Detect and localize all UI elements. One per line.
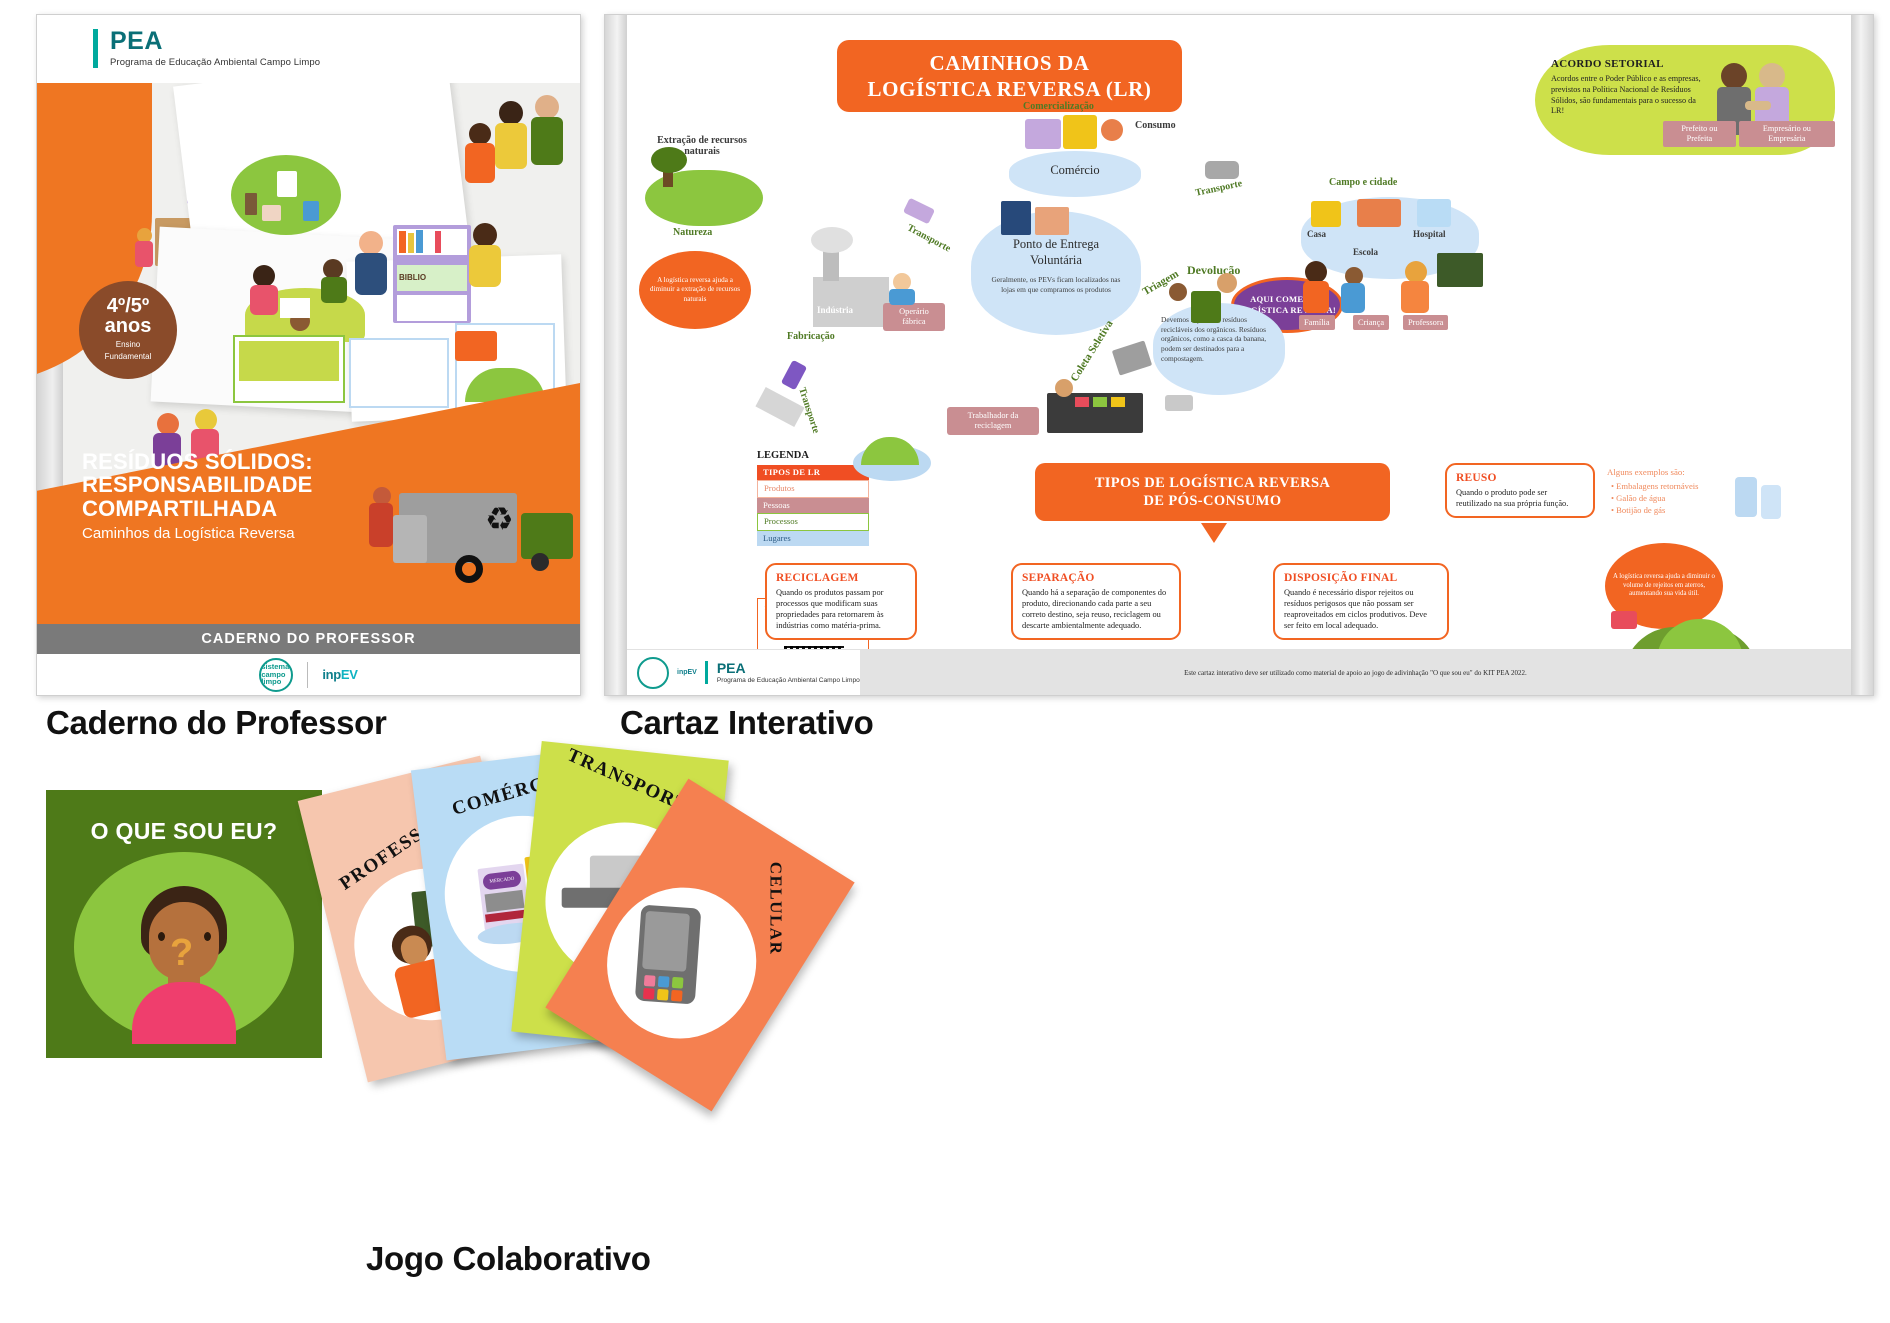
paper-icon [277,171,297,197]
box-disposicao-final: DISPOSIÇÃO FINAL Quando é necessário dis… [1273,563,1449,640]
pev-box-icon [1035,207,1069,235]
trabalhador-head-icon [1055,379,1073,397]
legend-title: LEGENDA [757,450,869,461]
pea-logo-title: PEA [110,29,320,54]
reciclagem-body: Quando os produtos passam por processos … [776,587,906,631]
triagem-adult-head [1217,273,1237,293]
character-eye-left-icon [158,932,165,941]
familia-body-icon [1303,281,1329,313]
campo-limpo-logo-text: sistema campo limpo [261,663,291,686]
caderno-title-line1: RESÍDUOS SÓLIDOS: [82,450,313,473]
poster-right-spine [1851,15,1873,695]
tipos-lr-banner: TIPOS DE LOGÍSTICA REVERSA DE PÓS-CONSUM… [1035,463,1390,521]
book-icon [303,201,319,221]
industria-chimney-icon [823,249,839,281]
phone-key-1 [644,975,656,987]
book-spine-1 [399,231,406,253]
grade-badge-line2: anos [79,316,177,337]
label-trabalhador-reciclagem: Trabalhador da reciclagem [947,407,1039,435]
jogo-cards-fan: PROFESSORA COMÉRCIO MERCADO TRANSPORTE C… [330,740,950,1300]
casa-icon [1311,201,1341,227]
disposicao-heading: DISPOSIÇÃO FINAL [1284,572,1438,584]
hospital-icon [1417,199,1451,227]
biblio-label: BIBLIO [399,273,426,282]
separacao-heading: SEPARAÇÃO [1022,572,1170,584]
pea-logo: PEA Programa de Educação Ambiental Campo… [93,29,320,68]
label-transporte-3: Transporte [1194,178,1243,199]
worksheet-icon [280,298,310,318]
student-body-1 [250,285,278,315]
compost-hill-icon [861,437,919,465]
store-icon-1 [1025,119,1061,149]
reuso-example-2: Botijão de gás [1611,505,1699,517]
professora-body-icon [1401,281,1429,313]
book-spine-4 [435,231,441,253]
inpev-logo-suffix: EV [341,667,358,682]
box-separacao: SEPARAÇÃO Quando há a separação de compo… [1011,563,1181,640]
waste-item-2 [1093,397,1107,407]
waste-item-3 [1111,397,1125,407]
caderno-title-block: RESÍDUOS SÓLIDOS: RESPONSABILIDADE COMPA… [82,450,313,542]
professora-head-icon [1405,261,1427,283]
tipos-banner-line2: DE PÓS-CONSUMO [1035,492,1390,510]
reuso-example-1: Galão de água [1611,493,1699,505]
reuso-examples-title: Alguns exemplos são: [1607,467,1685,477]
poster-pea-subtitle: Programa de Educação Ambiental Campo Lim… [717,677,860,684]
legend-row-tipos: TIPOS DE LR [757,465,869,480]
poster-inpev-logo: inpEV [677,669,697,676]
grade-badge-line3: Ensino [79,340,177,349]
label-operario-fabrica: Operário fábrica [883,303,945,331]
label-campo-cidade: Campo e cidade [1329,177,1397,188]
poster-footer-logos: inpEV PEA Programa de Educação Ambiental… [627,657,860,689]
tipos-banner-line1: TIPOS DE LOGÍSTICA REVERSA [1035,474,1390,492]
reuso-body: Quando o produto pode ser reutilizado na… [1456,487,1584,509]
waste-item-1 [1075,397,1089,407]
campo-limpo-ring-icon: sistema campo limpo [259,658,293,692]
student-body-2 [321,277,347,303]
person-head-c [535,95,559,119]
pev-body: Geralmente, os PEVs ficam localizados na… [987,275,1125,294]
poster-footer: inpEV PEA Programa de Educação Ambiental… [627,649,1851,695]
game-card-celular-label: CELULAR [766,862,786,956]
pev-title-line1: Ponto de Entrega [1013,237,1099,251]
legend-row-produtos: Produtos [757,480,869,497]
character-eye-right-icon [204,932,211,941]
tree-crown-icon [651,147,687,173]
caderno-cover-illustration: BIBLIO ♻ [37,83,580,628]
phone-key-5 [657,989,669,1001]
empresaria-head-icon [1759,63,1785,89]
banner-down-arrow [1201,523,1227,543]
truck-hopper-icon [393,515,427,563]
label-transporte-1: Transporte [905,222,952,254]
cartaz-interativo-poster[interactable]: CAMINHOS DA LOGÍSTICA REVERSA (LR) ACORD… [604,14,1874,696]
caderno-title-line2: RESPONSABILIDADE [82,473,313,496]
grade-badge-line4: Fundamental [79,352,177,361]
person-head-a [469,123,491,145]
pev-title: Ponto de Entrega Voluntária [971,237,1141,268]
label-professora: Professora [1403,315,1448,330]
reuso-heading: REUSO [1456,472,1584,484]
phone-key-4 [643,988,655,1000]
legend-row-processos: Processos [757,513,869,530]
pulp-icon [262,205,281,221]
student-head-1 [253,265,275,287]
adult-body-icon [355,253,387,295]
person-body-a [465,143,495,183]
label-natureza: Natureza [673,227,712,238]
reuso-examples: Embalagens retornáveis Galão de água Bot… [1611,481,1699,517]
natureza-note-blob: A logística reversa ajuda a diminuir a e… [639,251,751,329]
poster-left-spine [605,15,627,695]
poster-pea-logo: PEA Programa de Educação Ambiental Campo… [705,661,860,684]
legend-row-lugares: Lugares [757,531,869,546]
label-industria: Indústria [817,305,853,315]
caderno-band-label: CADERNO DO PROFESSOR [37,624,580,654]
girl-head-2 [195,409,217,431]
factory-icon [455,331,497,361]
poster-title-line2: LOGÍSTICA REVERSA (LR) [837,76,1182,102]
reuso-example-0: Embalagens retornáveis [1611,481,1699,493]
label-comercializacao: Comercialização [1023,101,1094,112]
girl-body-icon [469,245,501,287]
green-truck-wheel [531,553,549,571]
acordo-role-tags: Prefeito ou Prefeita Empresário ou Empre… [1663,121,1835,147]
car-icon [1205,161,1239,179]
industria-building-icon [813,277,889,327]
label-crianca: Criança [1353,315,1389,330]
caption-cartaz: Cartaz Interativo [620,704,873,742]
caption-jogo: Jogo Colaborativo [366,1240,651,1278]
shelf-row-3 [397,295,467,321]
poster-title: CAMINHOS DA LOGÍSTICA REVERSA (LR) [837,40,1182,112]
campo-limpo-logo: sistema campo limpo [259,658,293,692]
poster-pea-title: PEA [717,661,860,675]
pev-bin-icon [1001,201,1031,235]
smoke-icon [811,227,853,253]
phone-key-2 [658,976,670,988]
caderno-title-line3: COMPARTILHADA [82,497,313,520]
recycling-symbol-icon: ♻ [485,503,514,535]
aterro-truck-icon [1611,611,1637,629]
acordo-setorial-box: ACORDO SETORIAL Acordos entre o Poder Pú… [1535,45,1835,155]
poster-footer-note-area: Este cartaz interativo deve ser utilizad… [860,650,1851,695]
poster-footer-note: Este cartaz interativo deve ser utilizad… [1184,669,1527,677]
celular-phone-icon [635,905,702,1005]
garbage-truck-wheel [455,555,483,583]
label-escola: Escola [1353,247,1378,257]
grade-badge: 4º/5º anos Ensino Fundamental [79,281,177,379]
green-truck-icon [521,513,573,559]
poster-campo-limpo-icon [637,657,669,689]
tag-prefeito: Prefeito ou Prefeita [1663,121,1736,147]
worker-body-icon [369,503,393,547]
handshake-icon [1745,101,1771,110]
box-reciclagem: RECICLAGEM Quando os produtos passam por… [765,563,917,640]
legend-row-pessoas: Pessoas [757,498,869,513]
person-body-c [531,117,563,165]
phone-key-3 [672,977,684,989]
person-head-b [499,101,523,125]
diagram-card-nature-art [239,341,339,381]
caderno-footer-logos: sistema campo limpo inpEV [37,654,580,695]
label-hospital: Hospital [1413,229,1446,239]
triagem-child-head [1169,283,1187,301]
familia-head-icon [1305,261,1327,283]
box-reuso: REUSO Quando o produto pode ser reutiliz… [1445,463,1595,518]
caption-caderno: Caderno do Professor [46,704,387,742]
coleta-truck-icon [1112,340,1152,375]
truck-icon-4 [1165,395,1193,411]
o-que-sou-eu-card[interactable]: O QUE SOU EU? ? [46,790,322,1058]
label-comercio: Comércio [1009,163,1141,178]
store-icon-2 [1063,115,1097,149]
student-head-2 [323,259,343,279]
inpev-logo-prefix: inp [322,667,341,682]
label-fabricacao: Fabricação [787,331,835,342]
o-que-sou-eu-title: O QUE SOU EU? [46,818,322,845]
girl-head-icon [473,223,497,247]
logo-divider [307,662,308,688]
caderno-subtitle: Caminhos da Logística Reversa [82,525,313,542]
pea-logo-subtitle: Programa de Educação Ambiental Campo Lim… [110,57,320,68]
galao-agua-icon [1735,477,1757,517]
question-mark-icon: ? [170,932,193,975]
pev-title-line2: Voluntária [1030,253,1082,267]
label-casa: Casa [1307,229,1326,239]
escola-icon [1357,199,1401,227]
operario-fabrica-text: Operário fábrica [899,307,929,326]
botijao-gas-icon [1761,485,1781,519]
book-spine-2 [408,233,414,253]
crianca-body-icon [1341,283,1365,313]
adult-head-icon [359,231,383,255]
label-familia: Família [1299,315,1335,330]
tree-icon [245,193,257,215]
organic-bin-icon [1191,291,1221,323]
truck-icon-2 [781,360,807,390]
girl-head-1 [157,413,179,435]
book-spine-3 [416,230,423,253]
person-body-b [495,123,527,169]
tag-empresario: Empresário ou Empresária [1739,121,1835,147]
chalkboard-icon [1437,253,1483,287]
acordo-setorial-body: Acordos entre o Poder Público e as empre… [1551,74,1701,117]
shopper-icon [1101,119,1123,141]
disposicao-body: Quando é necessário dispor rejeitos ou r… [1284,587,1438,631]
compost-art [359,351,441,395]
reciclagem-heading: RECICLAGEM [776,572,906,584]
phone-key-6 [671,990,683,1002]
label-consumo: Consumo [1135,120,1176,131]
child-body-icon [135,241,153,267]
grade-badge-line1: 4º/5º [79,296,177,316]
inpev-logo: inpEV [322,667,357,682]
caderno-header: PEA Programa de Educação Ambiental Campo… [37,15,580,83]
operario-body-icon [889,289,915,305]
caderno-do-professor-cover[interactable]: PEA Programa de Educação Ambiental Campo… [36,14,581,696]
celular-screen-icon [642,911,690,972]
disposicao-example-1: Medicamentos [1317,695,1373,696]
trabalhador-text: Trabalhador da reciclagem [968,411,1019,430]
prefeito-head-icon [1721,63,1747,89]
truck-icon-1 [903,198,935,225]
separacao-body: Quando há a separação de componentes do … [1022,587,1170,631]
poster-title-line1: CAMINHOS DA [837,50,1182,76]
acordo-setorial-heading: ACORDO SETORIAL [1551,58,1664,70]
